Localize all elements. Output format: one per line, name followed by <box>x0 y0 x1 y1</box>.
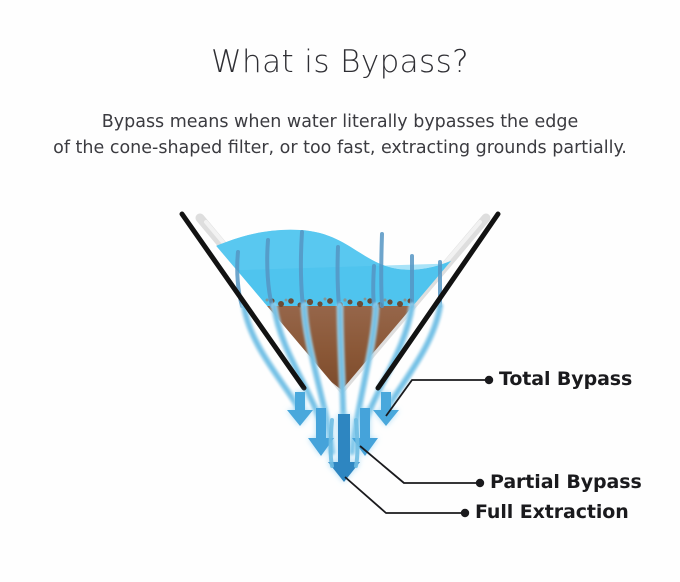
callout-dot-partial <box>476 479 484 487</box>
leader-line-partial <box>360 446 478 483</box>
callout-dot-full <box>461 509 469 517</box>
callout-label-total-bypass: Total Bypass <box>499 368 632 390</box>
callout-dots <box>461 376 493 517</box>
infographic-page: What is Bypass? Bypass means when water … <box>0 0 680 582</box>
callout-label-full-extraction: Full Extraction <box>475 501 629 523</box>
callout-dot-total <box>485 376 493 384</box>
callout-label-partial-bypass: Partial Bypass <box>490 471 642 493</box>
cone-filter-bypass-diagram <box>0 0 680 582</box>
